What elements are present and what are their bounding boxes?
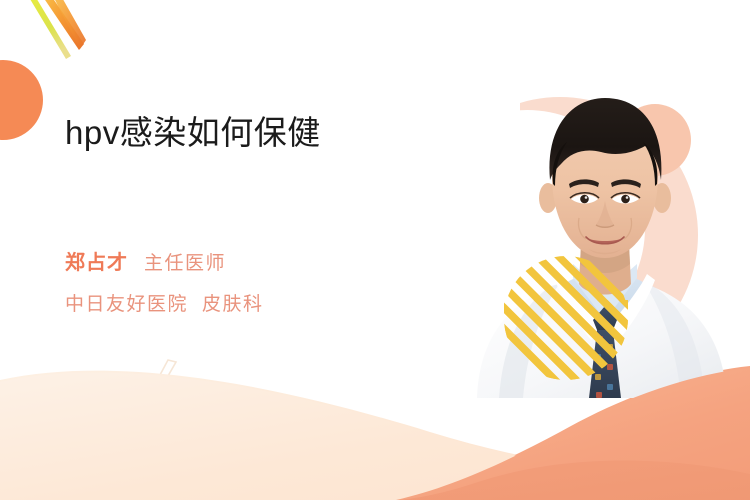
hospital-name: 中日友好医院 [65,289,188,316]
doctor-credit-block: 郑占才 主任医师 中日友好医院 皮肤科 [65,246,264,316]
doctor-video-thumbnail-card: hpv感染如何保健 郑占才 主任医师 中日友好医院 皮肤科 [0,0,750,500]
doctor-name: 郑占才 [65,246,128,275]
doctor-portrait-illustration [455,68,750,398]
page-title: hpv感染如何保健 [65,110,485,156]
doctor-portrait [455,68,750,398]
doctor-name-row: 郑占才 主任医师 [65,246,264,275]
doctor-affiliation-row: 中日友好医院 皮肤科 [65,289,264,316]
doctor-title: 主任医师 [144,248,226,275]
department-name: 皮肤科 [202,289,264,316]
headline-block: hpv感染如何保健 [65,110,485,156]
